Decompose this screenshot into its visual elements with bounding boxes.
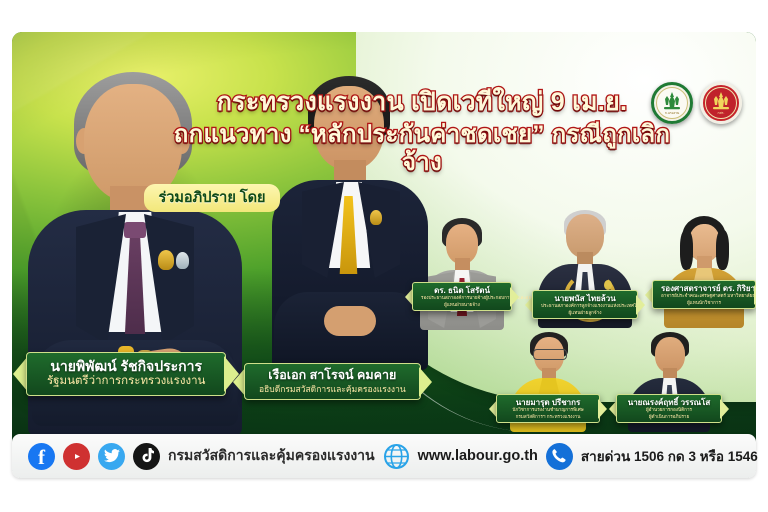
garuda-emblem-green-icon: ก.แรงงาน xyxy=(651,82,693,124)
minister-role: รัฐมนตรีว่าการกระทรวงแรงงาน xyxy=(47,375,205,389)
minister-nameplate: นายพิพัฒน์ รัชกิจประการ รัฐมนตรีว่าการกร… xyxy=(26,352,226,396)
headline-line-2: ถกแนวทาง “หลักประกันค่าชดเชย” กรณีถูกเลิ… xyxy=(162,121,682,178)
footer-website[interactable]: www.labour.go.th xyxy=(418,448,538,464)
poster-artwork: ร่วมอภิปราย โดย ดร. ธนิต โสรัตน์ รองประธ… xyxy=(12,32,756,478)
headline-line-1: กระทรวงแรงงาน เปิดเวทีใหญ่ 9 เม.ย. xyxy=(162,88,682,118)
panelist-role: ผู้อำนวยการกองนิติการ xyxy=(625,407,713,413)
panelist-photo-3 xyxy=(656,216,752,328)
director-nameplate: เรือเอก สาโรจน์ คมคาย อธิบดีกรมสวัสดิการ… xyxy=(244,363,421,400)
chevron-right-icon xyxy=(636,295,645,315)
panelist-name: นายพนัส ไทยล้วน xyxy=(541,294,629,303)
panelist-nameplate-1: ดร. ธนิต โสรัตน์ รองประธานสภาองค์การนายจ… xyxy=(412,282,512,311)
facebook-icon[interactable] xyxy=(28,443,55,470)
chevron-right-icon xyxy=(224,356,239,392)
panelist-role: รองประธานสภาองค์การนายจ้างผู้ประกอบการค้… xyxy=(421,295,503,301)
chevron-right-icon xyxy=(510,287,519,307)
panelist-name: ดร. ธนิต โสรัตน์ xyxy=(421,286,503,295)
youtube-icon[interactable] xyxy=(63,443,90,470)
tiktok-icon[interactable] xyxy=(133,443,160,470)
panelist-nameplate-4: นายมารุต ปรีชากร นักวิชาการแรงงานชำนาญกา… xyxy=(496,394,600,423)
panelist-role-secondary: ผู้แทนฝ่ายนายจ้าง xyxy=(421,302,503,308)
poster-root: ร่วมอภิปราย โดย ดร. ธนิต โสรัตน์ รองประธ… xyxy=(0,0,768,512)
panelist-role-secondary: ผู้ดำเนินการอภิปราย xyxy=(625,414,713,420)
garuda-emblem-red-icon: กสร. xyxy=(700,82,742,124)
director-name: เรือเอก สาโรจน์ คมคาย xyxy=(259,368,406,382)
panelist-photo-1 xyxy=(414,218,510,328)
panelist-nameplate-3: รองศาสตราจารย์ ดร. กิริยา กุลกลการ อาจาร… xyxy=(652,280,756,309)
panelist-role-secondary: ผู้แทนฝ่ายลูกจ้าง xyxy=(541,310,629,316)
panelist-role-secondary: ผู้แทนนักวิชาการ xyxy=(661,300,747,306)
footer-hotline: สายด่วน 1506 กด 3 หรือ 1546 xyxy=(581,445,758,467)
phone-icon xyxy=(546,443,573,470)
panelist-nameplate-2: นายพนัส ไทยล้วน ประธานสภาองค์การลูกจ้างแ… xyxy=(532,290,638,319)
chevron-right-icon xyxy=(419,367,432,397)
chevron-right-icon xyxy=(720,399,729,419)
director-role: อธิบดีกรมสวัสดิการและคุ้มครองแรงงาน xyxy=(259,384,406,394)
panel-title-text: ร่วมอภิปราย โดย xyxy=(144,184,279,212)
footer-org-name: กรมสวัสดิการและคุ้มครองแรงงาน xyxy=(168,445,375,467)
panelist-role: ประธานสภาองค์การลูกจ้างแรงงานแห่งประเทศไ… xyxy=(541,303,629,309)
minister-name: นายพิพัฒน์ รัชกิจประการ xyxy=(47,358,205,374)
panelist-name: รองศาสตราจารย์ ดร. กิริยา กุลกลการ xyxy=(661,284,747,293)
panelist-name: นายณรงค์ฤทธิ์ วรรณโส xyxy=(625,398,713,407)
panel-title: ร่วมอภิปราย โดย xyxy=(12,184,412,212)
panelist-role: นักวิชาการแรงงานชำนาญการพิเศษ xyxy=(505,407,591,413)
chevron-right-icon xyxy=(754,285,756,305)
svg-text:ก.แรงงาน: ก.แรงงาน xyxy=(665,111,680,115)
panelist-nameplate-5: นายณรงค์ฤทธิ์ วรรณโส ผู้อำนวยการกองนิติก… xyxy=(616,394,722,423)
panelist-role-secondary: กรมสวัสดิการฯ กระทรวงแรงงาน xyxy=(505,414,591,420)
royal-emblems: ก.แรงงาน กสร. xyxy=(651,82,742,124)
globe-icon xyxy=(383,443,410,470)
headline: กระทรวงแรงงาน เปิดเวทีใหญ่ 9 เม.ย. ถกแนว… xyxy=(162,88,682,177)
panelist-role: อาจารย์ประจำคณะเศรษฐศาสตร์ มหาวิทยาลัยธร… xyxy=(661,293,747,299)
svg-text:กสร.: กสร. xyxy=(718,111,725,115)
twitter-icon[interactable] xyxy=(98,443,125,470)
panelist-name: นายมารุต ปรีชากร xyxy=(505,398,591,407)
chevron-right-icon xyxy=(598,399,607,419)
footer-bar: กรมสวัสดิการและคุ้มครองแรงงาน www.labour… xyxy=(12,434,756,478)
